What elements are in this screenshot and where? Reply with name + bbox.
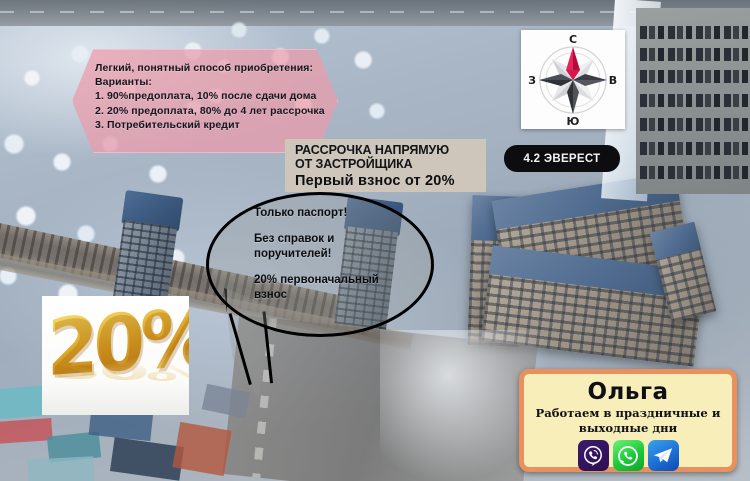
site-block (27, 456, 94, 481)
agent-name: Ольга (524, 379, 732, 406)
parking-row (640, 26, 750, 39)
parking-row (640, 70, 750, 83)
parking-row (640, 166, 750, 179)
parking-row (640, 142, 750, 155)
installment-line-1: РАССРОЧКА НАПРЯМУЮ (295, 143, 486, 157)
agent-contact-card: Ольга Работаем в праздничные и выходные … (519, 369, 737, 472)
installment-line-2: ОТ ЗАСТРОЙЩИКА (295, 157, 486, 171)
viber-button[interactable] (578, 440, 609, 471)
compass-east-label: В (609, 74, 617, 87)
bubble-text-line: взнос (254, 288, 430, 303)
compass-north-label: С (569, 33, 577, 46)
bubble-text: Только паспорт! Без справок и поручителе… (254, 206, 430, 314)
whatsapp-icon (616, 444, 640, 468)
compass-south-label: Ю (567, 115, 580, 128)
parking-lot (636, 8, 750, 194)
bubble-text-line: 20% первоначальный (254, 273, 430, 288)
parking-row (640, 48, 750, 61)
messenger-icon-row (524, 440, 732, 471)
agent-hours-line-2: выходные дни (524, 421, 732, 436)
compass-west-label: З (528, 74, 536, 87)
banner-line-3: 1. 90%предоплата, 10% после сдачи дома (95, 89, 327, 103)
project-name-badge: 4.2 ЭВЕРЕСТ (504, 145, 620, 172)
payment-options-banner: Легкий, понятный способ приобретения: Ва… (72, 49, 338, 153)
viber-icon (581, 444, 605, 468)
banner-line-4: 2. 20% предоплата, 80% до 4 лет рассрочк… (95, 104, 327, 118)
bubble-text-line: Только паспорт! (254, 206, 430, 221)
site-block (172, 422, 231, 476)
bubble-text-line: поручителей! (254, 247, 430, 262)
compass-rose: С В Ю З (521, 30, 625, 129)
installment-downpayment: Первый взнос от 20% (295, 172, 486, 191)
project-name-label: 4.2 ЭВЕРЕСТ (523, 153, 600, 165)
conditions-speech-bubble: Только паспорт! Без справок и поручителе… (206, 192, 434, 337)
advertisement-image: Легкий, понятный способ приобретения: Ва… (0, 0, 750, 481)
banner-line-1: Легкий, понятный способ приобретения: (95, 61, 327, 75)
discount-graphic-panel: 20% 20% (42, 296, 189, 415)
telegram-icon (651, 444, 675, 468)
bubble-block-2: Без справок и поручителей! (254, 232, 430, 262)
bubble-text-line: Без справок и (254, 232, 430, 247)
parking-row (640, 118, 750, 131)
compass-icon: С В Ю З (521, 30, 625, 129)
telegram-button[interactable] (648, 440, 679, 471)
banner-line-5: 3. Потребительский кредит (95, 118, 327, 132)
bubble-block-3: 20% первоначальный взнос (254, 273, 430, 303)
whatsapp-button[interactable] (613, 440, 644, 471)
agent-hours-line-1: Работаем в праздничные и (524, 406, 732, 421)
site-block (202, 384, 250, 419)
discount-value-reflection: 20% (52, 356, 189, 386)
parking-row (640, 94, 750, 107)
bubble-block-1: Только паспорт! (254, 206, 430, 221)
banner-line-2: Варианты: (95, 75, 327, 89)
site-block (0, 418, 53, 444)
installment-headline-box: РАССРОЧКА НАПРЯМУЮ ОТ ЗАСТРОЙЩИКА Первый… (285, 139, 486, 192)
